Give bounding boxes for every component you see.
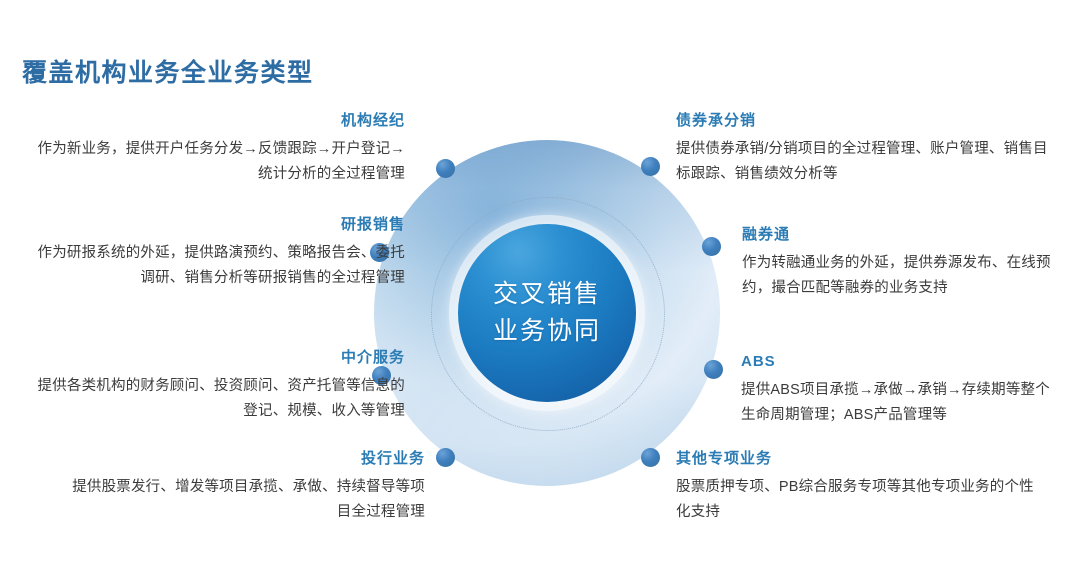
block-bond-distribution-heading: 债券承分销 xyxy=(676,112,1056,130)
cross-selling-sphere: 交叉销售 业务协同 xyxy=(374,140,720,486)
diagram-canvas: 交叉销售 业务协同 机构经纪 作为新业务，提供开户任务分发→反馈跟踪→开户登记→… xyxy=(0,0,1080,563)
block-intermediary-service-heading: 中介服务 xyxy=(25,349,405,367)
block-securities-lending-body: 作为转融通业务的外延，提供券源发布、在线预约，撮合匹配等融券的业务支持 xyxy=(742,251,1062,302)
block-institutional-brokerage-heading: 机构经纪 xyxy=(33,112,405,130)
node-abs-icon[interactable] xyxy=(704,360,723,379)
node-institutional-brokerage-icon[interactable] xyxy=(436,159,455,178)
block-securities-lending[interactable]: 融券通 作为转融通业务的外延，提供券源发布、在线预约，撮合匹配等融券的业务支持 xyxy=(742,226,1062,302)
block-research-sales-heading: 研报销售 xyxy=(25,216,405,234)
core-label-line-1: 交叉销售 xyxy=(493,276,601,314)
block-institutional-brokerage[interactable]: 机构经纪 作为新业务，提供开户任务分发→反馈跟踪→开户登记→统计分析的全过程管理 xyxy=(33,112,405,188)
core-circle: 交叉销售 业务协同 xyxy=(458,224,636,402)
block-other-special[interactable]: 其他专项业务 股票质押专项、PB综合服务专项等其他专项业务的个性化支持 xyxy=(676,450,1046,526)
block-investment-banking[interactable]: 投行业务 提供股票发行、增发等项目承揽、承做、持续督导等项目全过程管理 xyxy=(60,450,425,526)
core-label-line-2: 业务协同 xyxy=(493,313,601,351)
block-bond-distribution[interactable]: 债券承分销 提供债券承销/分销项目的全过程管理、账户管理、销售目标跟踪、销售绩效… xyxy=(676,112,1056,188)
block-investment-banking-body: 提供股票发行、增发等项目承揽、承做、持续督导等项目全过程管理 xyxy=(60,475,425,526)
block-bond-distribution-body: 提供债券承销/分销项目的全过程管理、账户管理、销售目标跟踪、销售绩效分析等 xyxy=(676,137,1056,188)
block-abs-body: 提供ABS项目承揽→承做→承销→存续期等整个生命周期管理；ABS产品管理等 xyxy=(741,378,1061,429)
block-investment-banking-heading: 投行业务 xyxy=(60,450,425,468)
node-securities-lending-icon[interactable] xyxy=(702,237,721,256)
block-research-sales[interactable]: 研报销售 作为研报系统的外延，提供路演预约、策略报告会、委托调研、销售分析等研报… xyxy=(25,216,405,292)
block-other-special-heading: 其他专项业务 xyxy=(676,450,1046,468)
block-other-special-body: 股票质押专项、PB综合服务专项等其他专项业务的个性化支持 xyxy=(676,475,1046,526)
block-research-sales-body: 作为研报系统的外延，提供路演预约、策略报告会、委托调研、销售分析等研报销售的全过… xyxy=(25,241,405,292)
block-institutional-brokerage-body: 作为新业务，提供开户任务分发→反馈跟踪→开户登记→统计分析的全过程管理 xyxy=(33,137,405,188)
block-abs-heading: ABS xyxy=(741,353,1061,371)
block-intermediary-service[interactable]: 中介服务 提供各类机构的财务顾问、投资顾问、资产托管等信息的登记、规模、收入等管… xyxy=(25,349,405,425)
node-other-special-icon[interactable] xyxy=(641,448,660,467)
node-bond-distribution-icon[interactable] xyxy=(641,157,660,176)
block-abs[interactable]: ABS 提供ABS项目承揽→承做→承销→存续期等整个生命周期管理；ABS产品管理… xyxy=(741,353,1061,429)
node-investment-banking-icon[interactable] xyxy=(436,448,455,467)
block-intermediary-service-body: 提供各类机构的财务顾问、投资顾问、资产托管等信息的登记、规模、收入等管理 xyxy=(25,374,405,425)
block-securities-lending-heading: 融券通 xyxy=(742,226,1062,244)
